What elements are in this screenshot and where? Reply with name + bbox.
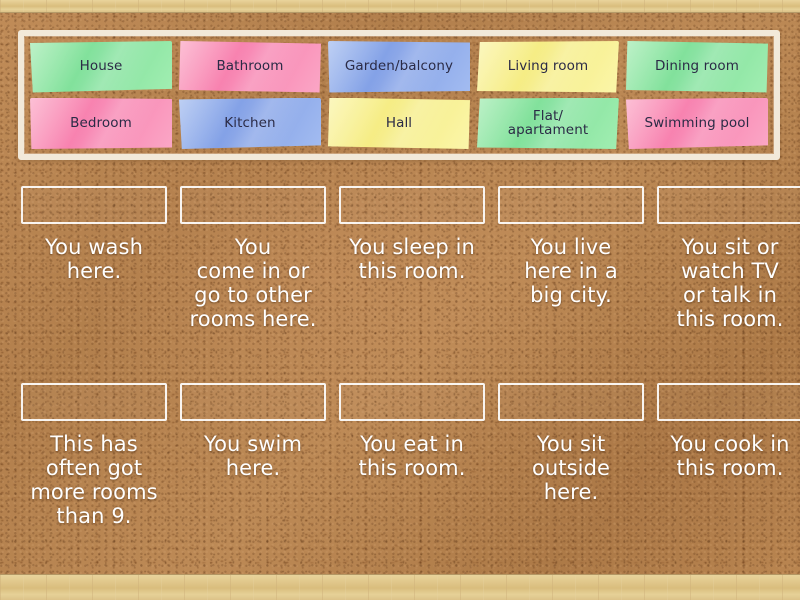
clue-text: You wash here. [20,236,168,284]
tile-label: Bathroom [216,59,283,74]
tile-bathroom[interactable]: Bathroom [179,41,321,93]
drop-zone-10[interactable] [657,383,800,421]
drop-zone-3[interactable] [339,186,485,224]
answer-cell: You sit or watch TV or talk in this room… [654,180,800,373]
answer-cell: You sit outside here. [495,377,647,570]
clue-text: You sit or watch TV or talk in this room… [656,236,800,332]
tile-kitchen[interactable]: Kitchen [179,98,321,150]
tile-label: Flat/ apartament [508,109,589,138]
clue-text: You come in or go to other rooms here. [179,236,327,332]
tile-tray: House Bathroom Garden/balcony Living roo… [18,30,780,160]
tile-label: Living room [508,59,588,74]
tile-dining-room[interactable]: Dining room [626,41,768,93]
answer-cell: You eat in this room. [336,377,488,570]
drop-zone-5[interactable] [657,186,800,224]
clue-text: You sit outside here. [497,433,645,505]
tile-label: Bedroom [70,116,132,131]
tile-label: Hall [386,116,412,131]
wooden-frame-bottom [0,574,800,600]
drop-zone-9[interactable] [498,383,644,421]
tile-hall[interactable]: Hall [328,98,470,150]
answer-cell: You swim here. [177,377,329,570]
answer-cell: You cook in this room. [654,377,800,570]
cork-board: House Bathroom Garden/balcony Living roo… [0,0,800,600]
answer-cell: You live here in a big city. [495,180,647,373]
tile-grid: House Bathroom Garden/balcony Living roo… [24,36,774,154]
tile-living-room[interactable]: Living room [477,41,619,93]
tile-flat-apartament[interactable]: Flat/ apartament [477,98,619,150]
clue-text: You eat in this room. [338,433,486,481]
wooden-frame-top [0,0,800,13]
answer-cell: You sleep in this room. [336,180,488,373]
tile-garden-balcony[interactable]: Garden/balcony [328,41,470,93]
answer-grid: You wash here. You come in or go to othe… [18,180,780,570]
tile-label: Garden/balcony [345,59,453,74]
drop-zone-1[interactable] [21,186,167,224]
clue-text: This has often got more rooms than 9. [20,433,168,529]
tile-swimming-pool[interactable]: Swimming pool [626,98,768,150]
drop-zone-2[interactable] [180,186,326,224]
wood-grain-texture-bottom [0,575,800,600]
clue-text: You live here in a big city. [497,236,645,308]
clue-text: You cook in this room. [656,433,800,481]
wood-grain-texture-top [0,0,800,12]
drop-zone-4[interactable] [498,186,644,224]
tile-label: Kitchen [224,116,275,131]
answer-cell: You come in or go to other rooms here. [177,180,329,373]
answer-cell: You wash here. [18,180,170,373]
tile-label: Swimming pool [645,116,750,131]
drop-zone-8[interactable] [339,383,485,421]
tile-bedroom[interactable]: Bedroom [30,98,172,150]
clue-text: You swim here. [179,433,327,481]
tile-label: Dining room [655,59,739,74]
clue-text: You sleep in this room. [338,236,486,284]
drop-zone-6[interactable] [21,383,167,421]
tile-label: House [80,59,123,74]
answer-cell: This has often got more rooms than 9. [18,377,170,570]
tile-house[interactable]: House [30,41,172,93]
drop-zone-7[interactable] [180,383,326,421]
